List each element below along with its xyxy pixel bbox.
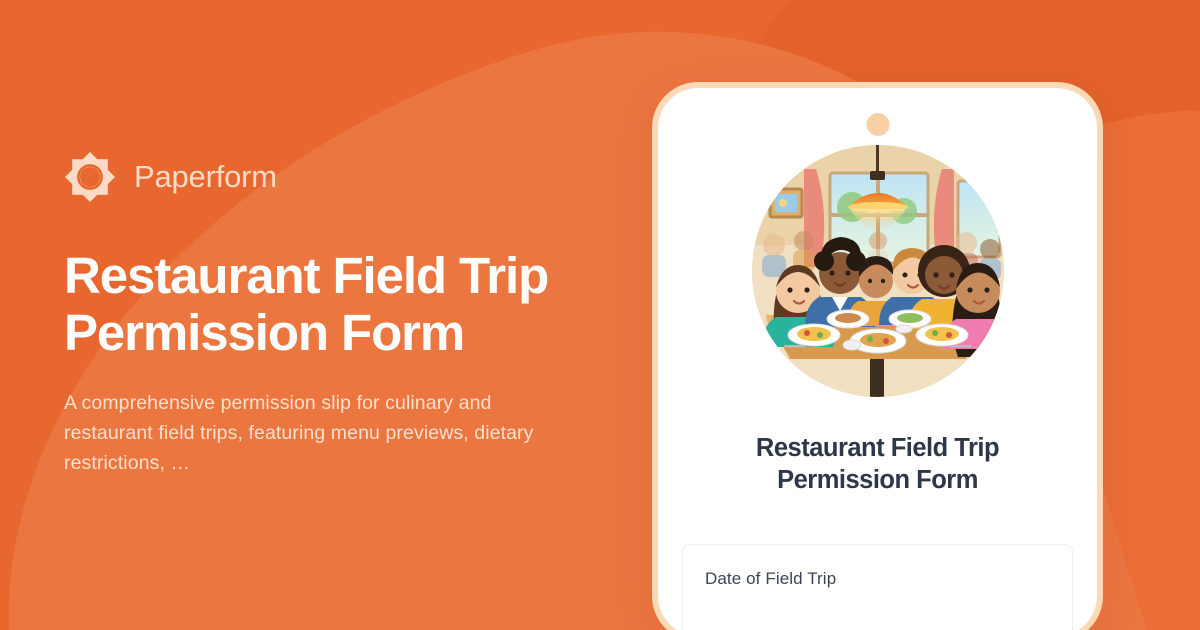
form-field-label-date-of-field-trip: Date of Field Trip xyxy=(705,569,1050,589)
brand-name: Paperform xyxy=(134,159,277,195)
page-title: Restaurant Field Trip Permission Form xyxy=(64,247,584,361)
camera-dot-icon xyxy=(866,113,889,136)
phone-screen: Restaurant Field Trip Permission Form Da… xyxy=(658,88,1097,630)
form-title: Restaurant Field Trip Permission Form xyxy=(698,433,1057,497)
paperform-star-logo-icon xyxy=(64,151,116,203)
brand-lockup: Paperform xyxy=(64,151,604,203)
page-description: A comprehensive permission slip for culi… xyxy=(64,388,564,479)
form-field-card[interactable]: Date of Field Trip xyxy=(682,544,1073,630)
form-hero-image xyxy=(752,145,1004,397)
hero-content: Paperform Restaurant Field Trip Permissi… xyxy=(64,0,604,630)
phone-mockup: Restaurant Field Trip Permission Form Da… xyxy=(652,82,1103,630)
restaurant-children-illustration xyxy=(752,145,1004,397)
